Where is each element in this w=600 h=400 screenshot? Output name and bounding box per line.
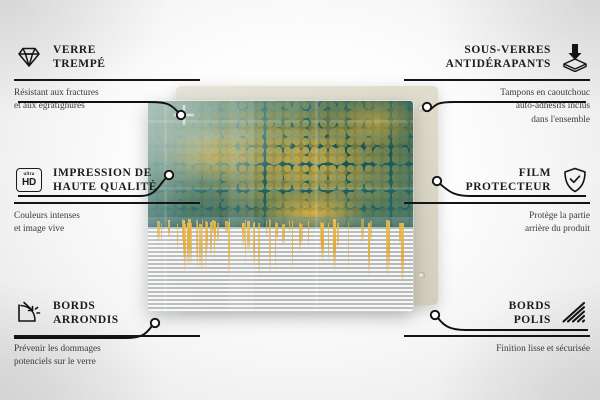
feature-title: VERRE TREMPÉ <box>53 43 106 72</box>
gold-drip <box>202 219 203 276</box>
diamond-icon <box>14 42 44 72</box>
gold-drip <box>389 221 390 270</box>
gold-drip <box>289 221 290 233</box>
feature-title-line1: BORDS <box>53 299 119 313</box>
feature-title-line1: FILM <box>466 166 551 180</box>
feature-divider <box>14 335 200 337</box>
gold-drip <box>320 222 322 248</box>
feature-title-line2: TREMPÉ <box>53 57 106 71</box>
gold-drip <box>328 223 329 264</box>
gold-drip <box>337 223 339 250</box>
gold-drip <box>348 223 349 272</box>
gold-drip <box>276 223 278 241</box>
gold-drip <box>292 221 293 272</box>
feature-title: SOUS-VERRES ANTIDÉRAPANTS <box>446 43 551 72</box>
feature-impression-hd: ultra HD IMPRESSION DE HAUTE QUALITÉ Cou… <box>14 163 200 237</box>
feature-title-line1: SOUS-VERRES <box>446 43 551 57</box>
gold-drip <box>266 221 267 238</box>
gold-drip <box>212 220 214 235</box>
gold-drip <box>206 222 208 253</box>
feature-title-line2: PROTECTEUR <box>466 180 551 194</box>
gold-drip <box>370 221 372 244</box>
feature-film-protecteur: FILM PROTECTEUR Protège la partie arrièr… <box>404 163 590 237</box>
feature-description: Protège la partie arrière du produit <box>404 210 590 237</box>
feature-divider <box>404 79 590 81</box>
gold-drip <box>228 222 230 278</box>
feature-description: Tampons en caoutchouc auto-adhésifs incl… <box>404 87 590 127</box>
gold-drip <box>386 220 389 279</box>
adhesive-pad-icon <box>560 42 590 72</box>
gold-drip <box>258 223 260 278</box>
feature-title: FILM PROTECTEUR <box>466 166 551 195</box>
ultra-hd-badge-icon: ultra HD <box>14 165 44 195</box>
gold-drip <box>282 224 285 246</box>
feature-title-line1: BORDS <box>509 299 551 313</box>
gold-drip <box>217 223 219 244</box>
feature-verre-trempe: VERRE TREMPÉ Résistant aux fractures et … <box>14 40 200 114</box>
feature-divider <box>404 202 590 204</box>
feature-title-line2: ARRONDIS <box>53 313 119 327</box>
hd-label: HD <box>22 178 36 188</box>
gold-drip <box>242 223 244 235</box>
gold-drip <box>269 220 271 275</box>
feature-description: Résistant aux fractures et aux égratignu… <box>14 87 200 114</box>
feature-title-line2: ANTIDÉRAPANTS <box>446 57 551 71</box>
feature-title-line1: VERRE <box>53 43 106 57</box>
feature-divider <box>14 202 200 204</box>
rounded-corner-icon <box>14 298 44 328</box>
polished-edge-icon <box>560 298 590 328</box>
feature-bords-arrondis: BORDS ARRONDIS Prévenir les dommages pot… <box>14 296 200 370</box>
feature-title: IMPRESSION DE HAUTE QUALITÉ <box>53 166 157 195</box>
feature-divider <box>404 335 590 337</box>
feature-description: Couleurs intenses et image vive <box>14 210 200 237</box>
feature-title: BORDS POLIS <box>509 299 551 328</box>
gold-drip <box>247 221 250 253</box>
gold-drip <box>308 221 309 247</box>
gold-drip <box>368 223 369 277</box>
gold-drip <box>300 224 303 246</box>
feature-bords-polis: BORDS POLIS Finition lisse et sécurisée <box>404 296 590 356</box>
mounting-hole <box>418 272 425 279</box>
shield-check-icon <box>560 165 590 195</box>
feature-sous-verres-antiderapants: SOUS-VERRES ANTIDÉRAPANTS Tampons en cao… <box>404 40 590 127</box>
gold-drip <box>361 219 364 245</box>
infographic-canvas: VERRE TREMPÉ Résistant aux fractures et … <box>0 0 600 400</box>
gold-drip <box>254 222 255 268</box>
gold-drip <box>214 221 215 261</box>
feature-divider <box>14 79 200 81</box>
feature-title-line1: IMPRESSION DE <box>53 166 157 180</box>
gold-drip <box>333 219 336 271</box>
feature-description: Finition lisse et sécurisée <box>404 343 590 356</box>
feature-description: Prévenir les dommages potenciels sur le … <box>14 343 200 370</box>
feature-title-line2: POLIS <box>509 313 551 327</box>
feature-title-line2: HAUTE QUALITÉ <box>53 180 157 194</box>
feature-title: BORDS ARRONDIS <box>53 299 119 328</box>
